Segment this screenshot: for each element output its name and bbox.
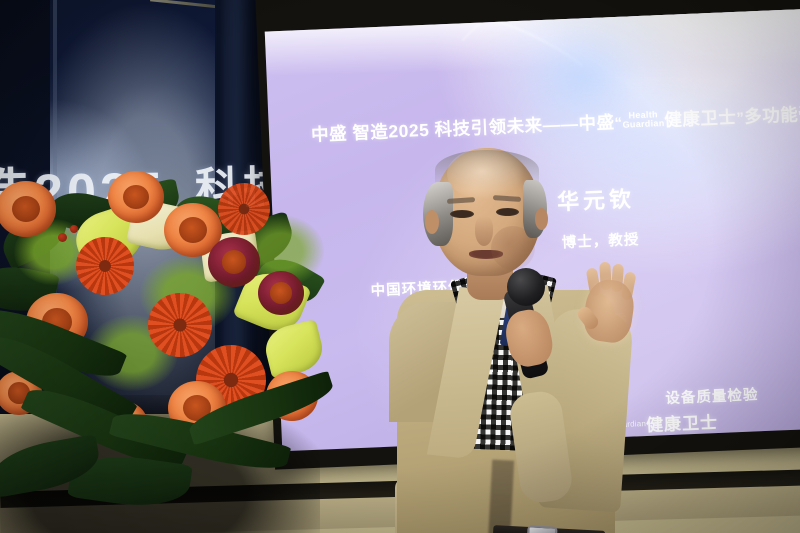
head-highlight	[447, 148, 525, 200]
ear-left	[425, 210, 439, 234]
speaker-figure	[395, 130, 625, 533]
ear-right	[535, 208, 548, 230]
slide-title-part3: 多功能瓷砖	[744, 103, 800, 127]
slide-brand-en: HealthGuardian	[622, 110, 665, 130]
backdrop-support-rod	[150, 0, 222, 9]
cheek-shadow	[491, 226, 535, 270]
slide-brand-logo-cn: 健康卫士	[645, 408, 718, 436]
slide-title-part2: 健康卫士	[664, 107, 737, 130]
nose	[475, 216, 493, 246]
gerbera-flower	[148, 293, 212, 357]
belt-buckle	[526, 525, 557, 533]
photo-scene: 造2025 科技 de 中盛 智造2025 科技引领未来——中盛“HealthG…	[0, 0, 800, 533]
eye-right	[496, 208, 519, 216]
gerbera-flower	[218, 183, 270, 235]
rose-flower-dark	[258, 271, 304, 315]
berry	[58, 233, 67, 242]
slide-brand-logo: Guardian健康卫士 多功能瓷砖	[611, 408, 719, 448]
slide-brand-en-line2: Guardian	[622, 118, 664, 130]
slide-affiliation-4: 设备质量检验	[665, 383, 759, 408]
slide-brand-logo-sub: 多功能瓷砖	[634, 435, 719, 448]
flower-bouquet	[0, 175, 350, 533]
microphone-head	[507, 268, 545, 306]
rose-flower-dark	[208, 237, 260, 287]
rose-flower	[108, 171, 164, 223]
gerbera-flower	[76, 237, 134, 295]
eye-left	[450, 210, 474, 218]
berry	[70, 225, 78, 233]
